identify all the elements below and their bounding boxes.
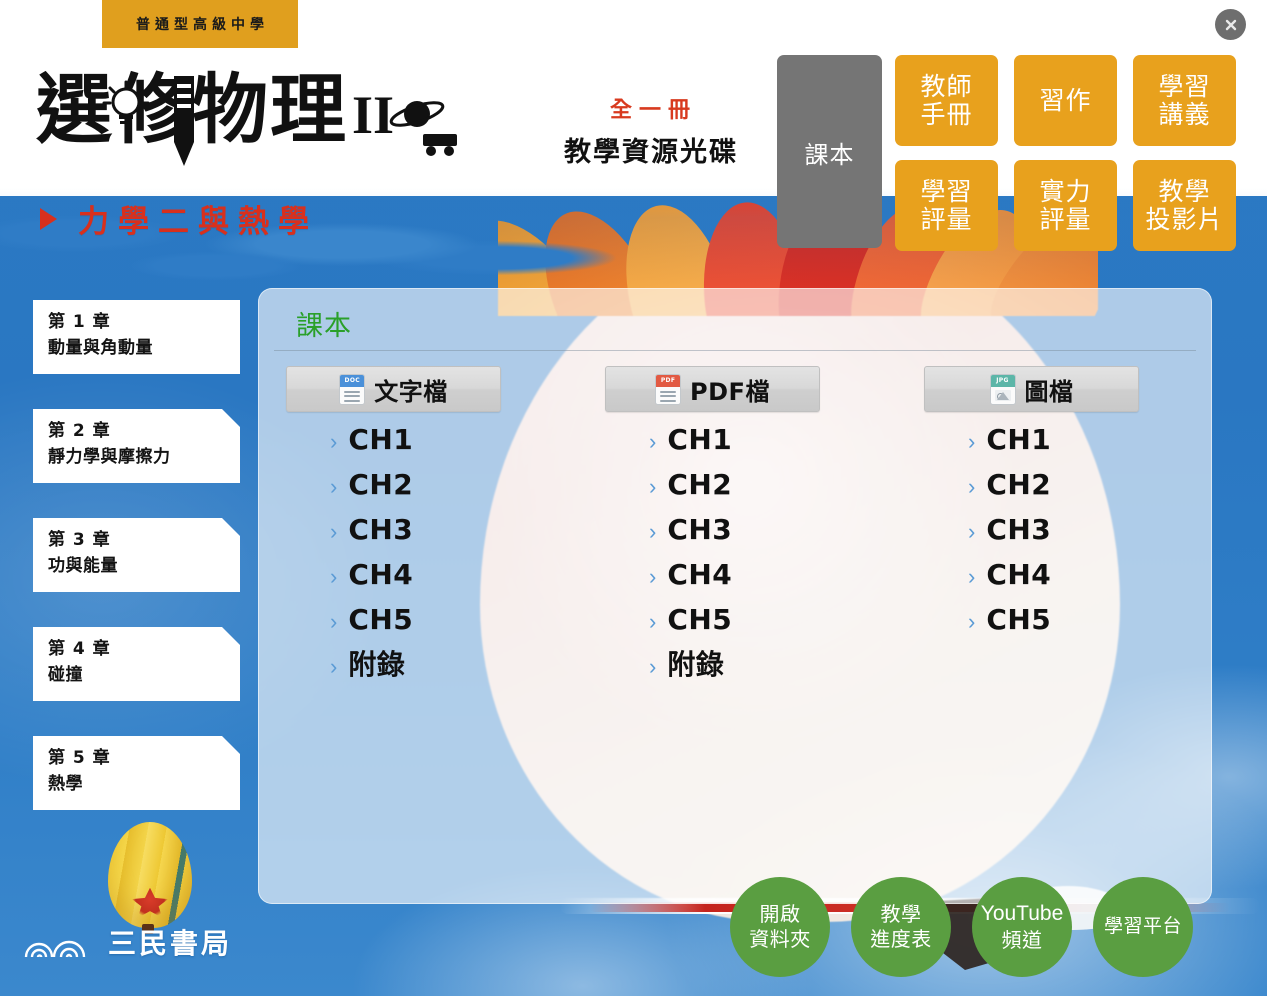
file-list-pdf: › CH1 › CH2 › CH3 › CH4 xyxy=(605,426,867,696)
nav-workbook[interactable]: 習作 xyxy=(1014,55,1117,146)
file-item-doc-ch1-label: CH1 xyxy=(348,426,413,454)
file-item-pdf-ch2-label: CH2 xyxy=(667,471,732,499)
open-folder-line2: 資料夾 xyxy=(749,927,811,952)
file-item-doc-ch4[interactable]: › CH4 xyxy=(330,561,548,606)
volume-label: 全一冊 xyxy=(545,92,755,124)
column-header-pdf[interactable]: PDF PDF檔 xyxy=(605,366,820,412)
file-list-image: › CH1 › CH2 › CH3 › CH4 xyxy=(924,426,1186,651)
jpg-file-icon: JPG xyxy=(990,374,1016,405)
file-item-pdf-ch4-label: CH4 xyxy=(667,561,732,589)
file-item-image-ch4-label: CH4 xyxy=(986,561,1051,589)
chevron-right-icon: › xyxy=(330,431,337,453)
close-icon xyxy=(1223,17,1239,33)
nav-teacher-manual-line2: 手冊 xyxy=(920,101,972,129)
doc-icon-badge: DOC xyxy=(345,377,360,384)
file-item-doc-ch5[interactable]: › CH5 xyxy=(330,606,548,651)
file-item-image-ch3[interactable]: › CH3 xyxy=(968,516,1186,561)
chapter-5-name: 熱學 xyxy=(48,772,240,798)
jpg-icon-badge: JPG xyxy=(996,377,1008,384)
resource-nav-grid: 教師 手冊 習作 學習 講義 學習 評量 實力 評量 教學 投影片 xyxy=(895,55,1236,251)
column-pdf: PDF PDF檔 › CH1 › CH2 › xyxy=(605,366,867,696)
file-item-image-ch5[interactable]: › CH5 xyxy=(968,606,1186,651)
chevron-right-icon: › xyxy=(968,476,975,498)
open-folder-line1: 開啟 xyxy=(760,902,801,927)
teaching-schedule-line2: 進度表 xyxy=(870,927,932,952)
file-item-image-ch2[interactable]: › CH2 xyxy=(968,471,1186,516)
file-item-image-ch1-label: CH1 xyxy=(986,426,1051,454)
action-button-row: 開啟 資料夾 教學 進度表 YouTube 頻道 學習平台 xyxy=(730,877,1193,977)
file-item-pdf-ch4[interactable]: › CH4 xyxy=(649,561,867,606)
file-item-doc-ch3-label: CH3 xyxy=(348,516,413,544)
file-item-image-ch4[interactable]: › CH4 xyxy=(968,561,1186,606)
file-item-pdf-ch5-label: CH5 xyxy=(667,606,732,634)
nav-study-assessment-line2: 評量 xyxy=(920,206,972,234)
file-item-image-ch3-label: CH3 xyxy=(986,516,1051,544)
nav-teaching-slides-line1: 教學 xyxy=(1158,178,1210,206)
file-item-pdf-ch1[interactable]: › CH1 xyxy=(649,426,867,471)
teaching-schedule-line1: 教學 xyxy=(881,902,922,927)
sidebar-item-chapter-3[interactable]: 第 3 章 功與能量 xyxy=(33,518,240,592)
file-item-doc-appendix-label: 附錄 xyxy=(348,651,405,679)
column-header-image-label: 圖檔 xyxy=(1025,372,1074,407)
course-title-main: 選修物理 xyxy=(36,72,348,148)
sidebar-item-chapter-2[interactable]: 第 2 章 靜力學與摩擦力 xyxy=(33,409,240,483)
nav-proficiency-assessment-line1: 實力 xyxy=(1039,178,1091,206)
publisher-logo: 三民書局 xyxy=(24,922,232,962)
pdf-icon-badge: PDF xyxy=(661,377,675,384)
tab-textbook-label: 課本 xyxy=(805,135,855,170)
book-subject-label: 力學二與熱學 xyxy=(69,196,318,241)
chevron-right-icon: › xyxy=(968,521,975,543)
nav-study-assessment-line1: 學習 xyxy=(920,178,972,206)
sanmin-arc-mark-icon xyxy=(24,925,98,959)
learning-platform-line1: 學習平台 xyxy=(1104,915,1182,939)
chapter-1-number: 第 1 章 xyxy=(48,310,240,336)
chevron-right-icon: › xyxy=(968,431,975,453)
publisher-name: 三民書局 xyxy=(108,922,232,962)
chapter-4-name: 碰撞 xyxy=(48,663,240,689)
open-folder-button[interactable]: 開啟 資料夾 xyxy=(730,877,830,977)
chapter-5-number: 第 5 章 xyxy=(48,746,240,772)
learning-platform-button[interactable]: 學習平台 xyxy=(1093,877,1193,977)
nav-study-assessment[interactable]: 學習 評量 xyxy=(895,160,998,251)
chapter-4-number: 第 4 章 xyxy=(48,637,240,663)
chevron-right-icon: › xyxy=(330,521,337,543)
file-item-image-ch1[interactable]: › CH1 xyxy=(968,426,1186,471)
chevron-right-icon: › xyxy=(330,566,337,588)
chevron-right-icon: › xyxy=(330,476,337,498)
triangle-bullet-icon xyxy=(40,208,57,230)
disc-subtitle: 全一冊 教學資源光碟 xyxy=(545,92,755,169)
file-item-pdf-ch3-label: CH3 xyxy=(667,516,732,544)
chapter-3-name: 功與能量 xyxy=(48,554,240,580)
column-header-pdf-label: PDF檔 xyxy=(690,372,770,407)
file-item-pdf-appendix-label: 附錄 xyxy=(667,651,724,679)
nav-teaching-slides-line2: 投影片 xyxy=(1145,206,1223,234)
teaching-schedule-button[interactable]: 教學 進度表 xyxy=(851,877,951,977)
chapter-1-name: 動量與角動量 xyxy=(48,336,240,362)
chevron-right-icon: › xyxy=(649,611,656,633)
chevron-right-icon: › xyxy=(968,566,975,588)
grade-level-label: 普通型高級中學 xyxy=(131,14,269,34)
file-item-doc-ch5-label: CH5 xyxy=(348,606,413,634)
sidebar-item-chapter-1[interactable]: 第 1 章 動量與角動量 xyxy=(33,300,240,374)
file-item-pdf-ch2[interactable]: › CH2 xyxy=(649,471,867,516)
file-type-columns: DOC 文字檔 › CH1 › CH2 › xyxy=(286,366,1186,696)
file-item-image-ch5-label: CH5 xyxy=(986,606,1051,634)
nav-teacher-manual-line1: 教師 xyxy=(920,73,972,101)
nav-teacher-manual[interactable]: 教師 手冊 xyxy=(895,55,998,146)
chapter-2-number: 第 2 章 xyxy=(48,419,240,445)
nav-teaching-slides[interactable]: 教學 投影片 xyxy=(1133,160,1236,251)
panel-divider xyxy=(274,350,1196,351)
book-subject-title: 力學二與熱學 xyxy=(40,196,318,241)
file-item-pdf-ch5[interactable]: › CH5 xyxy=(649,606,867,651)
chevron-right-icon: › xyxy=(968,611,975,633)
file-item-pdf-ch3[interactable]: › CH3 xyxy=(649,516,867,561)
pdf-file-icon: PDF xyxy=(655,374,681,405)
youtube-channel-line2: 頻道 xyxy=(1002,928,1043,953)
file-item-doc-ch2[interactable]: › CH2 xyxy=(330,471,548,516)
panel-title: 課本 xyxy=(296,304,352,343)
column-header-image[interactable]: JPG 圖檔 xyxy=(924,366,1139,412)
chapter-3-number: 第 3 章 xyxy=(48,528,240,554)
file-item-image-ch2-label: CH2 xyxy=(986,471,1051,499)
file-item-doc-ch2-label: CH2 xyxy=(348,471,413,499)
file-item-doc-ch4-label: CH4 xyxy=(348,561,413,589)
application-window: 普通型高級中學 選修物理 II 全一冊 教學資源光碟 力學二與熱學 xyxy=(0,0,1267,996)
nav-study-handout[interactable]: 學習 講義 xyxy=(1133,55,1236,146)
chevron-right-icon: › xyxy=(649,476,656,498)
chevron-right-icon: › xyxy=(330,656,337,678)
grade-level-tag: 普通型高級中學 xyxy=(102,0,298,48)
chapter-2-name: 靜力學與摩擦力 xyxy=(48,445,240,471)
chevron-right-icon: › xyxy=(330,611,337,633)
chevron-right-icon: › xyxy=(649,656,656,678)
column-header-doc[interactable]: DOC 文字檔 xyxy=(286,366,501,412)
file-item-doc-ch3[interactable]: › CH3 xyxy=(330,516,548,561)
file-item-pdf-ch1-label: CH1 xyxy=(667,426,732,454)
column-image: JPG 圖檔 › CH1 › CH2 › xyxy=(924,366,1186,696)
nav-proficiency-assessment-line2: 評量 xyxy=(1039,206,1091,234)
youtube-channel-button[interactable]: YouTube 頻道 xyxy=(972,877,1072,977)
nav-study-handout-line2: 講義 xyxy=(1158,101,1210,129)
chevron-right-icon: › xyxy=(649,431,656,453)
sidebar-item-chapter-4[interactable]: 第 4 章 碰撞 xyxy=(33,627,240,701)
close-button[interactable] xyxy=(1215,9,1246,40)
file-item-doc-appendix[interactable]: › 附錄 xyxy=(330,651,548,696)
column-header-doc-label: 文字檔 xyxy=(374,372,448,407)
youtube-channel-line1: YouTube xyxy=(981,901,1064,927)
chevron-right-icon: › xyxy=(649,521,656,543)
column-doc: DOC 文字檔 › CH1 › CH2 › xyxy=(286,366,548,696)
file-item-doc-ch1[interactable]: › CH1 xyxy=(330,426,548,471)
nav-study-handout-line1: 學習 xyxy=(1158,73,1210,101)
nav-proficiency-assessment[interactable]: 實力 評量 xyxy=(1014,160,1117,251)
course-title: 選修物理 II xyxy=(36,72,394,148)
chapter-sidebar: 第 1 章 動量與角動量 第 2 章 靜力學與摩擦力 第 3 章 功與能量 第 … xyxy=(33,300,240,845)
sidebar-item-chapter-5[interactable]: 第 5 章 熱學 xyxy=(33,736,240,810)
nav-workbook-line1: 習作 xyxy=(1039,87,1091,115)
disc-type-label: 教學資源光碟 xyxy=(545,130,755,169)
content-panel: 課本 DOC 文字檔 › CH1 › xyxy=(258,288,1212,904)
chevron-right-icon: › xyxy=(649,566,656,588)
file-list-doc: › CH1 › CH2 › CH3 › CH4 xyxy=(286,426,548,696)
course-title-volume: II xyxy=(352,88,394,142)
doc-file-icon: DOC xyxy=(339,374,365,405)
tab-textbook-active[interactable]: 課本 xyxy=(777,55,882,248)
file-item-pdf-appendix[interactable]: › 附錄 xyxy=(649,651,867,696)
